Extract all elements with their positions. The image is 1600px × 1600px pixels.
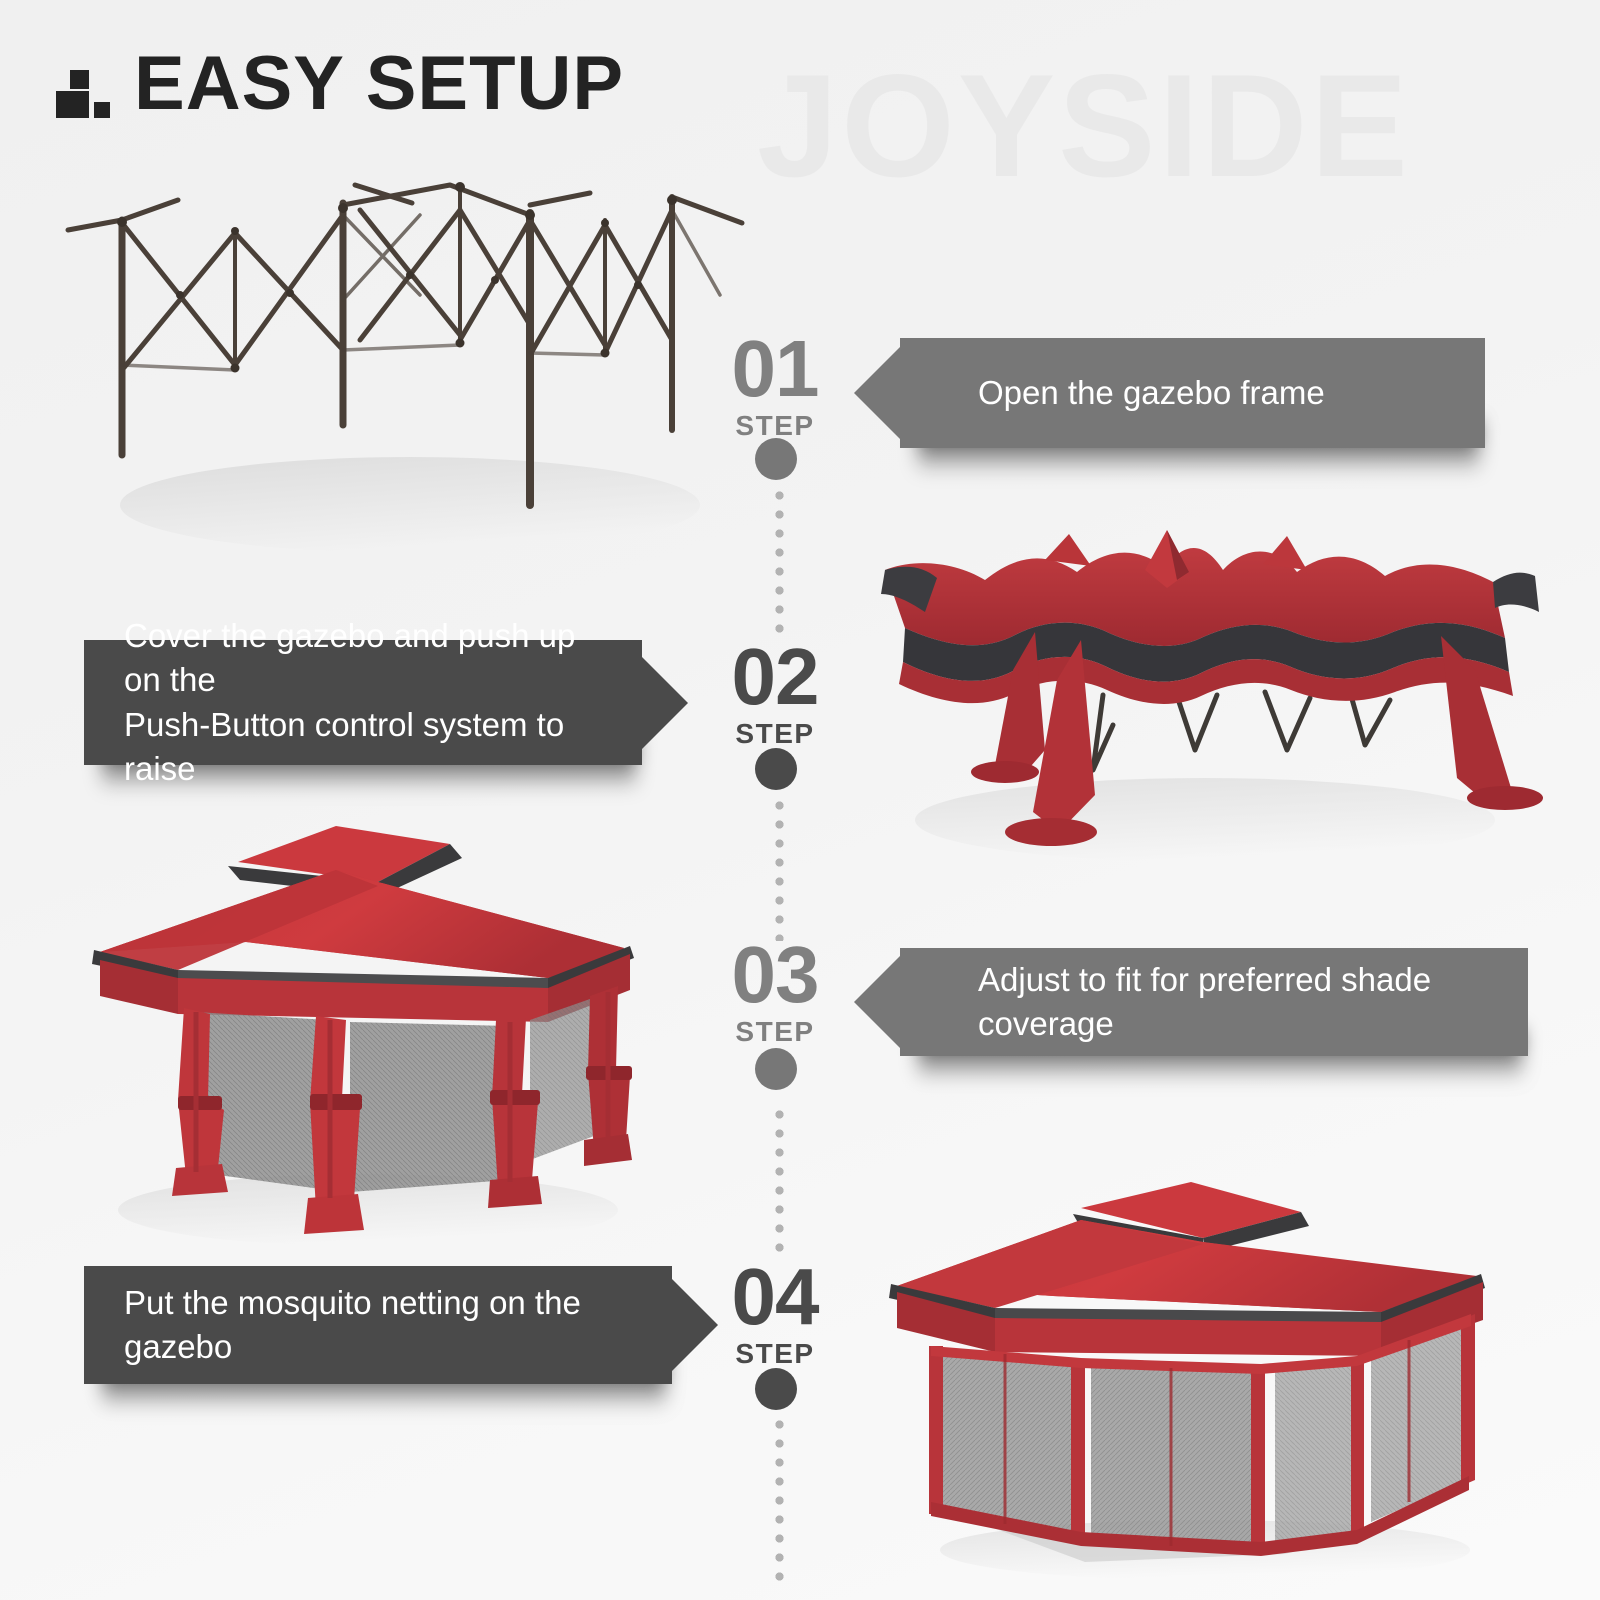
step-banner-text-04: Put the mosquito netting on the gazebo: [124, 1281, 624, 1369]
step-word-02: STEP: [695, 718, 855, 750]
step-banner-03: Adjust to fit for preferred shade covera…: [900, 948, 1528, 1056]
product-image-frame: [60, 175, 750, 565]
step-banner-02: Cover the gazebo and push up on the Push…: [84, 640, 642, 765]
step-banner-text-03: Adjust to fit for preferred shade covera…: [978, 958, 1492, 1046]
step-number-03: 03: [695, 938, 855, 1012]
page-title: EASY SETUP: [134, 52, 624, 117]
step-dot-01: [755, 438, 797, 480]
step-banner-text-01: Open the gazebo frame: [978, 371, 1325, 415]
setup-blocks-icon: [56, 55, 112, 117]
step-number-04: 04: [695, 1260, 855, 1334]
brand-watermark: JOYSIDE: [757, 42, 1411, 210]
timeline-segment-4-end: [775, 1415, 784, 1590]
step-word-01: STEP: [695, 410, 855, 442]
step-banner-04: Put the mosquito netting on the gazebo: [84, 1266, 672, 1384]
timeline-segment-3-4: [775, 1105, 784, 1255]
step-word-04: STEP: [695, 1338, 855, 1370]
product-image-gazebo-netting: [885, 1150, 1515, 1580]
timeline-segment-1-2: [775, 486, 784, 636]
product-image-draped-canopy: [845, 520, 1545, 890]
page-header: EASY SETUP: [56, 52, 624, 117]
step-banner-text-02: Cover the gazebo and push up on the Push…: [124, 614, 594, 791]
step-number-block-03: 03 STEP: [695, 938, 855, 1048]
timeline-segment-2-3: [775, 796, 784, 941]
product-image-gazebo-curtains: [78, 800, 648, 1260]
step-dot-03: [755, 1048, 797, 1090]
step-number-block-02: 02 STEP: [695, 640, 855, 750]
step-word-03: STEP: [695, 1016, 855, 1048]
infographic-page: JOYSIDE EASY SETUP: [0, 0, 1600, 1600]
step-dot-02: [755, 748, 797, 790]
step-number-02: 02: [695, 640, 855, 714]
step-number-block-01: 01 STEP: [695, 332, 855, 442]
step-number-01: 01: [695, 332, 855, 406]
step-dot-04: [755, 1368, 797, 1410]
step-banner-01: Open the gazebo frame: [900, 338, 1485, 448]
step-number-block-04: 04 STEP: [695, 1260, 855, 1370]
